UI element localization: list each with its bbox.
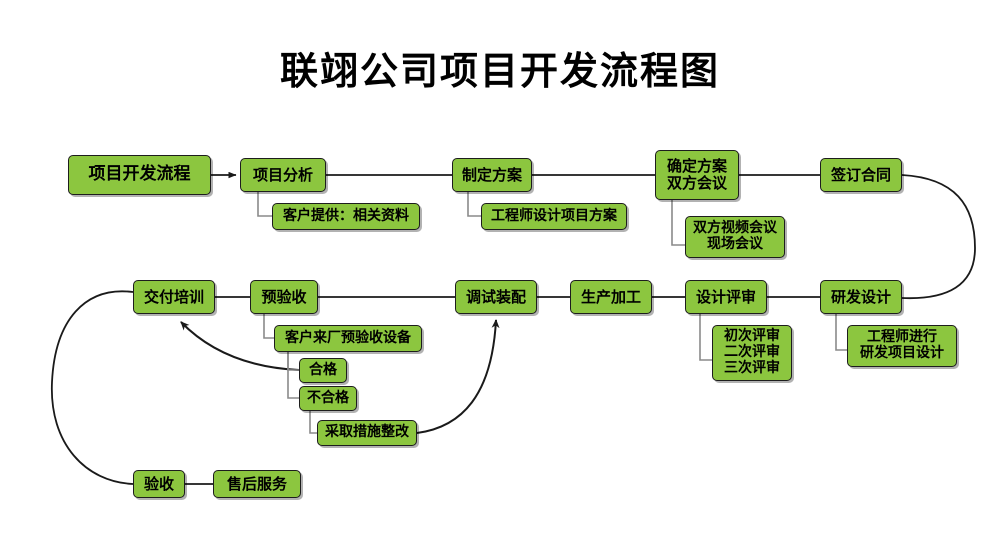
node-project-analysis[interactable]: 项目分析 bbox=[240, 158, 326, 192]
link-n10d-n9-curve bbox=[417, 320, 496, 433]
node-video-and-onsite-meeting[interactable]: 双方视频会议 现场会议 bbox=[685, 216, 785, 258]
sublink-n10a-n10c bbox=[288, 352, 299, 398]
node-production-processing[interactable]: 生产加工 bbox=[570, 280, 652, 314]
node-after-sales-service[interactable]: 售后服务 bbox=[213, 470, 301, 498]
sublink-n10-n10a bbox=[264, 314, 274, 338]
node-confirm-plan-meeting[interactable]: 确定方案 双方会议 bbox=[655, 150, 739, 200]
node-customer-onsite-pre-acceptance[interactable]: 客户来厂预验收设备 bbox=[274, 325, 422, 352]
node-customer-provides-materials[interactable]: 客户提供：相关资料 bbox=[272, 203, 420, 230]
node-unqualified[interactable]: 不合格 bbox=[299, 386, 357, 411]
flowchart-canvas: 联翊公司项目开发流程图 bbox=[0, 0, 1000, 541]
node-sign-contract[interactable]: 签订合同 bbox=[820, 158, 902, 192]
sublink-n10a-n10b bbox=[288, 352, 299, 370]
node-rd-design[interactable]: 研发设计 bbox=[820, 280, 902, 314]
node-delivery-training[interactable]: 交付培训 bbox=[133, 280, 215, 314]
sublink-n3-n3a bbox=[468, 192, 481, 216]
node-engineer-rd-project-design[interactable]: 工程师进行 研发项目设计 bbox=[847, 325, 957, 367]
node-acceptance[interactable]: 验收 bbox=[133, 470, 185, 498]
link-n5-n6-curve bbox=[902, 175, 975, 298]
node-design-review[interactable]: 设计评审 bbox=[685, 280, 767, 314]
node-engineer-designs-plan[interactable]: 工程师设计项目方案 bbox=[481, 203, 627, 230]
node-qualified[interactable]: 合格 bbox=[299, 358, 347, 383]
node-take-corrective-measures[interactable]: 采取措施整改 bbox=[317, 420, 417, 446]
node-review-rounds[interactable]: 初次评审 二次评审 三次评审 bbox=[712, 325, 792, 381]
sublink-n10c-n10d bbox=[310, 411, 317, 433]
node-formulate-plan[interactable]: 制定方案 bbox=[452, 158, 532, 192]
sublink-n6-n6a bbox=[836, 314, 847, 350]
sublink-n7-n7a bbox=[700, 314, 712, 360]
node-pre-acceptance[interactable]: 预验收 bbox=[250, 280, 318, 314]
sublink-n2-n2a bbox=[258, 192, 272, 216]
link-n11-n12-curve bbox=[52, 291, 133, 484]
page-title: 联翊公司项目开发流程图 bbox=[0, 40, 1000, 95]
node-project-development-process[interactable]: 项目开发流程 bbox=[68, 155, 211, 195]
sublink-n4-n4a bbox=[672, 200, 685, 245]
node-debug-assembly[interactable]: 调试装配 bbox=[455, 280, 537, 314]
